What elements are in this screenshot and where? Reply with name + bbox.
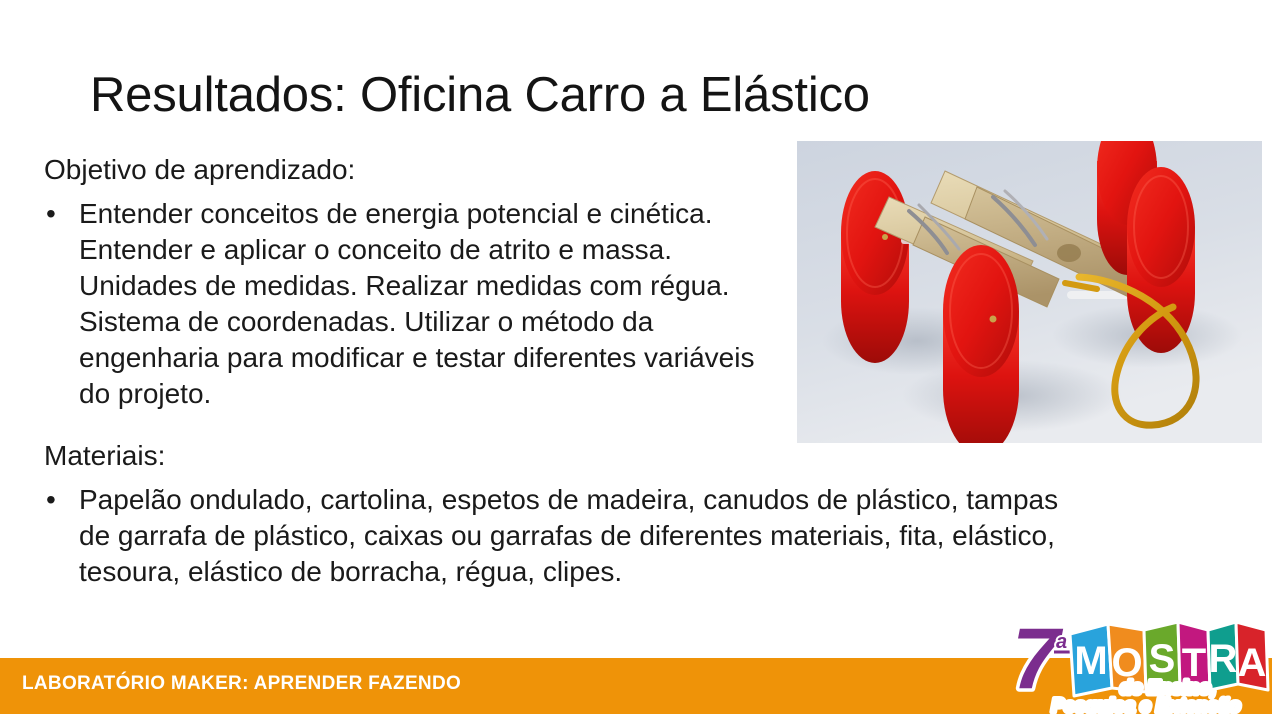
svg-text:R: R <box>1209 637 1238 681</box>
svg-text:a: a <box>1056 631 1067 653</box>
wheel-front-left <box>943 245 1019 443</box>
page-title: Resultados: Oficina Carro a Elástico <box>90 66 870 124</box>
svg-text:A: A <box>1238 641 1267 685</box>
mostra-logo-graphic: 7 7 a a M O S T R A <box>1008 606 1270 714</box>
bullet-point-icon: • <box>44 196 79 232</box>
rubber-band-car-photo <box>797 141 1262 443</box>
section-materiais: Materiais: • Papelão ondulado, cartolina… <box>44 438 1134 590</box>
mostra-logo: 7 7 a a M O S T R A <box>1008 606 1270 714</box>
svg-text:M: M <box>1074 639 1107 683</box>
materiais-heading: Materiais: <box>44 438 1134 474</box>
materiais-bullet-text: Papelão ondulado, cartolina, espetos de … <box>79 482 1089 590</box>
wheel-back-left <box>841 171 909 363</box>
footer-label: LABORATÓRIO MAKER: APRENDER FAZENDO <box>22 673 461 695</box>
logo-seven: 7 7 a a <box>1012 611 1072 707</box>
svg-text:S: S <box>1149 637 1176 681</box>
materiais-bullet-item: • Papelão ondulado, cartolina, espetos d… <box>44 482 1134 590</box>
bullet-point-icon: • <box>44 482 79 518</box>
svg-text:7: 7 <box>1012 611 1064 707</box>
rubber-band-car-illustration <box>797 141 1262 443</box>
wheel-front-right <box>1127 167 1195 353</box>
svg-text:Pesquisa e Extensão: Pesquisa e Extensão <box>1051 696 1240 714</box>
slide-root: Resultados: Oficina Carro a Elástico Obj… <box>0 0 1272 714</box>
objetivo-bullet-text: Entender conceitos de energia potencial … <box>79 196 779 412</box>
